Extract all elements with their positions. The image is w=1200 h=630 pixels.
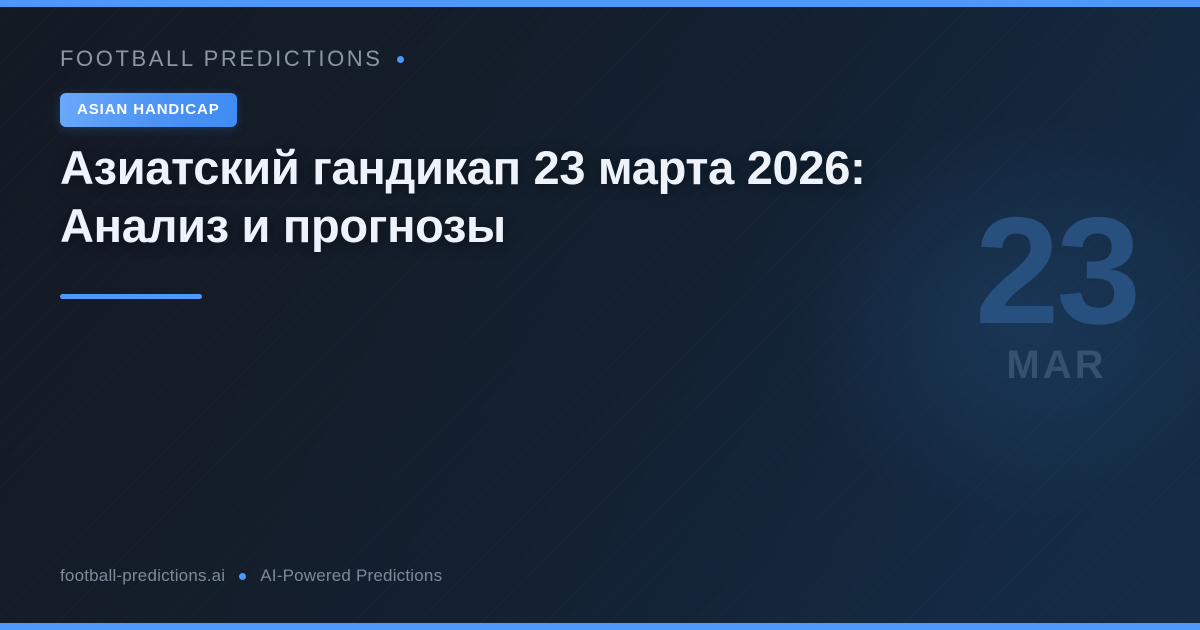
date-watermark-month: MAR	[975, 343, 1138, 388]
top-accent-bar	[0, 0, 1200, 7]
og-share-card: 23 MAR FOOTBALL PREDICTIONS ASIAN HANDIC…	[0, 0, 1200, 630]
footer-site-url[interactable]: football-predictions.ai	[60, 566, 225, 586]
eyebrow: FOOTBALL PREDICTIONS	[60, 46, 404, 72]
eyebrow-label: FOOTBALL PREDICTIONS	[60, 46, 383, 72]
bullet-dot-icon	[239, 573, 246, 580]
title-accent-rule	[60, 294, 202, 299]
date-watermark-day: 23	[975, 206, 1138, 337]
bullet-dot-icon	[397, 56, 404, 63]
page-title: Азиатский гандикап 23 марта 2026: Анализ…	[60, 139, 940, 256]
footer-tagline: AI-Powered Predictions	[260, 566, 442, 586]
footer: football-predictions.ai AI-Powered Predi…	[60, 566, 442, 586]
background-glow	[700, 40, 1200, 600]
date-watermark: 23 MAR	[975, 206, 1138, 388]
bottom-accent-bar	[0, 623, 1200, 630]
category-badge[interactable]: ASIAN HANDICAP	[60, 93, 237, 127]
